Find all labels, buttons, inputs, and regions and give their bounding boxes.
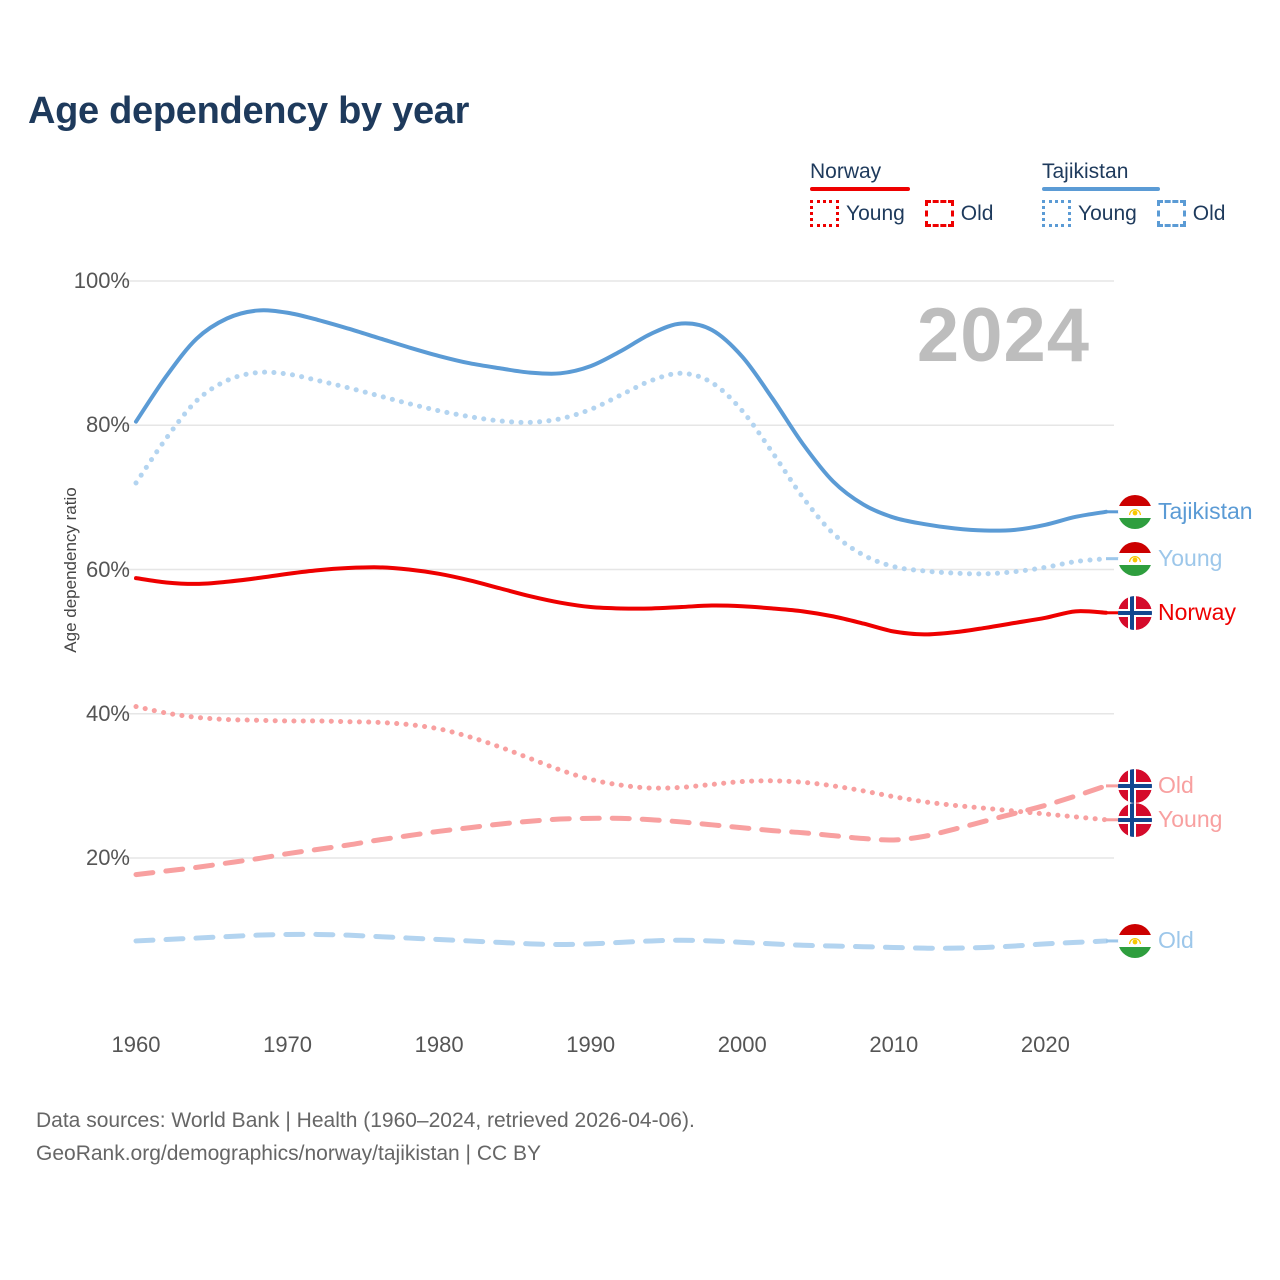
y-tick-label: 40% xyxy=(20,701,130,727)
flag-tajikistan-icon xyxy=(1118,495,1152,529)
footer-line-attribution: GeoRank.org/demographics/norway/tajikist… xyxy=(36,1138,695,1171)
flag-norway-icon xyxy=(1118,596,1152,630)
x-tick-label: 1980 xyxy=(415,1032,464,1058)
end-label-text: Old xyxy=(1158,927,1194,954)
year-watermark: 2024 xyxy=(917,292,1090,379)
y-axis-label: Age dependency ratio xyxy=(61,455,81,685)
x-tick-label: 1970 xyxy=(263,1032,312,1058)
chart-plot-area xyxy=(0,0,1280,1280)
series-line-norway-young xyxy=(136,707,1106,820)
y-tick-label: 20% xyxy=(20,845,130,871)
end-label[interactable]: Tajikistan xyxy=(1118,495,1253,529)
end-label[interactable]: Old xyxy=(1118,769,1194,803)
flag-tajikistan-icon xyxy=(1118,924,1152,958)
end-label-text: Norway xyxy=(1158,599,1236,626)
series-line-tajikistan-young xyxy=(136,372,1106,574)
end-label-text: Old xyxy=(1158,772,1194,799)
x-tick-label: 2020 xyxy=(1021,1032,1070,1058)
end-label-text: Tajikistan xyxy=(1158,498,1253,525)
series-line-norway xyxy=(136,567,1106,634)
footer: Data sources: World Bank | Health (1960–… xyxy=(36,1105,695,1170)
x-tick-label: 1990 xyxy=(566,1032,615,1058)
footer-line-sources: Data sources: World Bank | Health (1960–… xyxy=(36,1105,695,1138)
series-line-norway-old xyxy=(136,786,1106,875)
end-label-text: Young xyxy=(1158,545,1222,572)
end-label[interactable]: Young xyxy=(1118,542,1222,576)
end-label[interactable]: Young xyxy=(1118,803,1222,837)
end-label-text: Young xyxy=(1158,806,1222,833)
flag-norway-icon xyxy=(1118,769,1152,803)
y-tick-label: 80% xyxy=(20,412,130,438)
flag-tajikistan-icon xyxy=(1118,542,1152,576)
end-label[interactable]: Norway xyxy=(1118,596,1236,630)
y-tick-label: 100% xyxy=(20,268,130,294)
x-tick-label: 2000 xyxy=(718,1032,767,1058)
end-label[interactable]: Old xyxy=(1118,924,1194,958)
flag-norway-icon xyxy=(1118,803,1152,837)
series-line-tajikistan-old xyxy=(136,934,1106,948)
x-tick-label: 1960 xyxy=(112,1032,161,1058)
chart-canvas xyxy=(0,0,1280,1280)
x-tick-label: 2010 xyxy=(869,1032,918,1058)
